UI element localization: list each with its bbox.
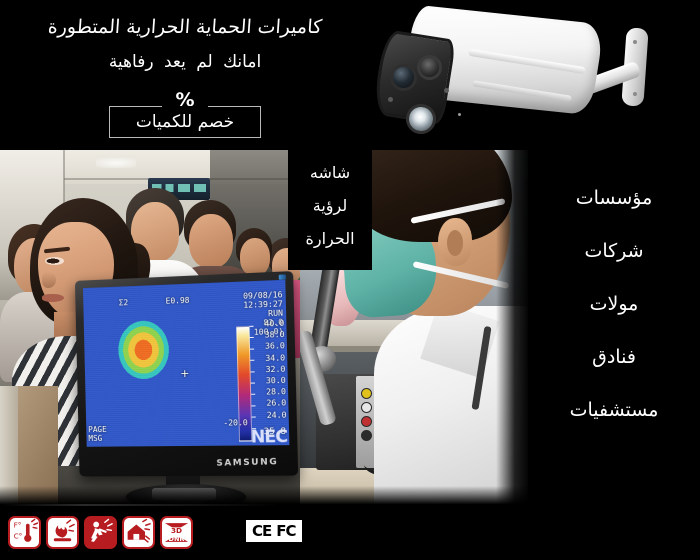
nec-logo: NEC [251, 427, 288, 447]
running-person-glyph [86, 518, 115, 547]
human-intrusion-detection-icon [84, 516, 117, 549]
operator-ear-inner [447, 230, 463, 256]
thermal-menu-readout: PAGE MSG [88, 425, 107, 443]
sensor-dot-icon [388, 97, 393, 102]
fcc-mark: FC [276, 523, 295, 539]
thermal-scale-labels: 40.0 38.0 36.0 34.0 32.0 30.0 28.0 26.0 … [264, 318, 286, 421]
thermal-monitor: Σ2 E0.98 09/08/16 12:39:27 RUN 82.0 ( 10… [74, 276, 294, 476]
svg-text:DNR: DNR [169, 535, 185, 543]
segment-item-institutions: مؤسسات [528, 172, 700, 225]
perimeter-house-detection-icon [122, 516, 155, 549]
ce-mark: CE [252, 523, 271, 539]
crowd-person-face [240, 238, 270, 276]
bnc-connector-white-icon [361, 402, 372, 413]
bnc-connector-red-icon [361, 416, 372, 427]
segment-item-malls: مولات [528, 278, 700, 331]
thermometer-glyph: F° C° [10, 518, 39, 547]
page-title: كاميرات الحماية الحرارية المتطورة [0, 16, 371, 38]
monitor-screen: Σ2 E0.98 09/08/16 12:39:27 RUN 82.0 ( 10… [83, 280, 289, 447]
callout-line-2: لرؤية [288, 189, 372, 222]
page-subtitle: امانك لم يعد رفاهية [0, 52, 370, 72]
temperature-thermometer-icon: F° C° [8, 516, 41, 549]
svg-text:F°: F° [14, 520, 22, 529]
thermal-emissivity-readout: E0.98 [166, 296, 190, 306]
foreground-woman-eye [45, 257, 64, 265]
bnc-connector-black-icon [361, 430, 372, 441]
callout-line-3: الحرارة [288, 222, 372, 255]
thermal-scale-min: -20.0 [223, 418, 248, 427]
screen-callout-label: شاشه لرؤية الحرارة [288, 150, 372, 270]
ceiling-light [96, 158, 136, 168]
svg-text:3D: 3D [171, 526, 182, 535]
house-glyph [124, 518, 153, 547]
bottom-strip-divider [0, 504, 700, 506]
bottom-strip: F° C° [0, 506, 700, 560]
certification-marks: CE FC [246, 520, 302, 542]
photo-collage: Σ2 E0.98 09/08/16 12:39:27 RUN 82.0 ( 10… [0, 150, 528, 505]
headline-block: كاميرات الحماية الحرارية المتطورة امانك … [0, 0, 370, 150]
crowd-person-face [189, 214, 233, 268]
segment-item-companies: شركات [528, 225, 700, 278]
microphone-hole-icon [458, 113, 461, 116]
discount-label: خصم للكميات [0, 109, 370, 135]
monitor-brand-label: SAMSUNG [216, 457, 278, 469]
bnc-connector-yellow-icon [361, 388, 372, 399]
segment-item-hospitals: مستشفيات [528, 384, 700, 437]
callout-line-1: شاشه [288, 156, 372, 189]
operator-hair [354, 150, 512, 242]
wall-plate-hole-icon [633, 40, 637, 44]
flame-fire-detection-icon [46, 516, 79, 549]
segment-item-hotels: فنادق [528, 331, 700, 384]
thermal-sigma-readout: Σ2 [119, 298, 129, 307]
svg-text:C°: C° [14, 531, 23, 540]
dnr-glyph: 3D DNR [162, 518, 191, 547]
photo-right-fade [496, 150, 530, 505]
photo-bottom-fade [0, 486, 528, 506]
sensor-dot-icon [444, 88, 449, 93]
thermal-cursor-icon: + [180, 368, 189, 379]
feature-icon-row: F° C° [8, 516, 193, 549]
flame-glyph [48, 518, 77, 547]
poster-root: كاميرات الحماية الحرارية المتطورة امانك … [0, 0, 700, 560]
wall-plate-hole-icon [633, 92, 637, 96]
product-camera-image [360, 0, 700, 160]
target-segments-list: مؤسسات شركات مولات فنادق مستشفيات [528, 150, 700, 505]
discount-badge: % خصم للكميات [0, 90, 370, 145]
3d-dnr-noise-reduction-icon: 3D DNR [160, 516, 193, 549]
